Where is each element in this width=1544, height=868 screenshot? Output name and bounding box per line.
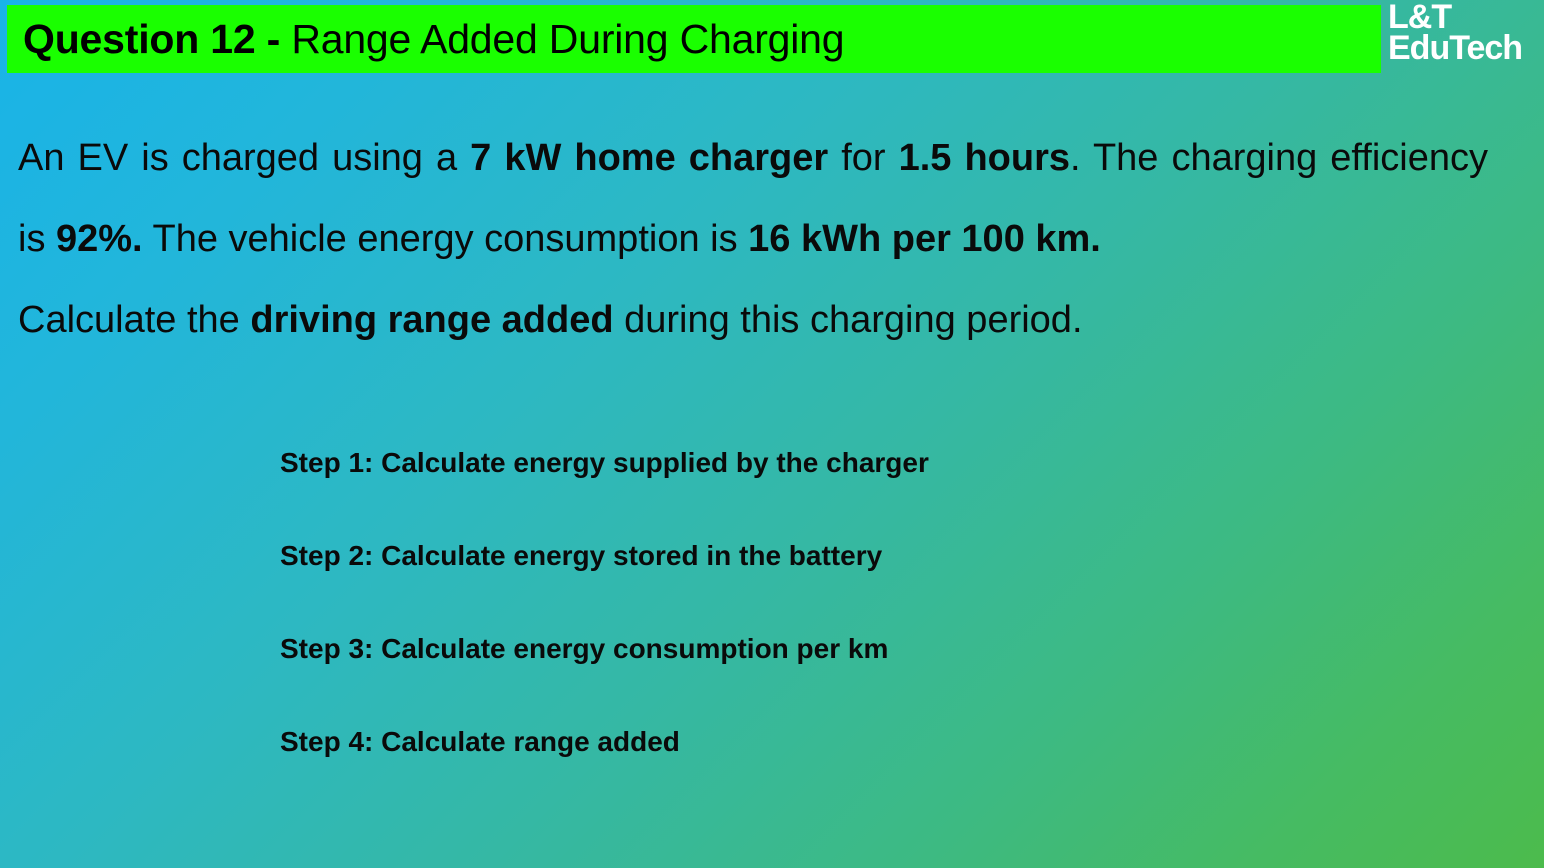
question-paragraph-last: Calculate the driving range added during… bbox=[18, 280, 1488, 361]
question-seg-consumption: 16 kWh per 100 km. bbox=[748, 218, 1101, 260]
question-seg-range: driving range added bbox=[250, 299, 613, 341]
question-seg-3: . The charging bbox=[1070, 137, 1317, 179]
question-seg-efficiency: 92%. bbox=[56, 218, 143, 260]
question-topic: Range Added During Charging bbox=[280, 16, 844, 62]
question-seg-6: Calculate the bbox=[18, 299, 250, 341]
question-seg-charger: 7 kW home charger bbox=[470, 137, 828, 179]
question-seg-1: An EV is charged using a bbox=[18, 137, 470, 179]
step-item-4: Step 4: Calculate range added bbox=[280, 719, 1380, 764]
steps-list: Step 1: Calculate energy supplied by the… bbox=[280, 440, 1380, 764]
brand-logo: L&T EduTech bbox=[1388, 2, 1544, 65]
question-number: Question 12 - bbox=[23, 16, 280, 62]
slide-root: Question 12 - Range Added During Chargin… bbox=[0, 0, 1544, 868]
brand-logo-line2: EduTech bbox=[1388, 33, 1544, 64]
question-seg-5: The vehicle energy consumption is bbox=[143, 218, 749, 260]
question-seg-7: during this charging period. bbox=[614, 299, 1083, 341]
question-text: An EV is charged using a 7 kW home charg… bbox=[18, 118, 1488, 361]
question-seg-duration: 1.5 hours bbox=[899, 137, 1070, 179]
page-title: Question 12 - Range Added During Chargin… bbox=[23, 19, 844, 60]
question-paragraph: An EV is charged using a 7 kW home charg… bbox=[18, 118, 1488, 280]
step-item-1: Step 1: Calculate energy supplied by the… bbox=[280, 440, 1380, 533]
step-item-2: Step 2: Calculate energy stored in the b… bbox=[280, 533, 1380, 626]
step-item-3: Step 3: Calculate energy consumption per… bbox=[280, 626, 1380, 719]
header-bar: Question 12 - Range Added During Chargin… bbox=[7, 5, 1381, 73]
question-seg-2: for bbox=[828, 137, 898, 179]
